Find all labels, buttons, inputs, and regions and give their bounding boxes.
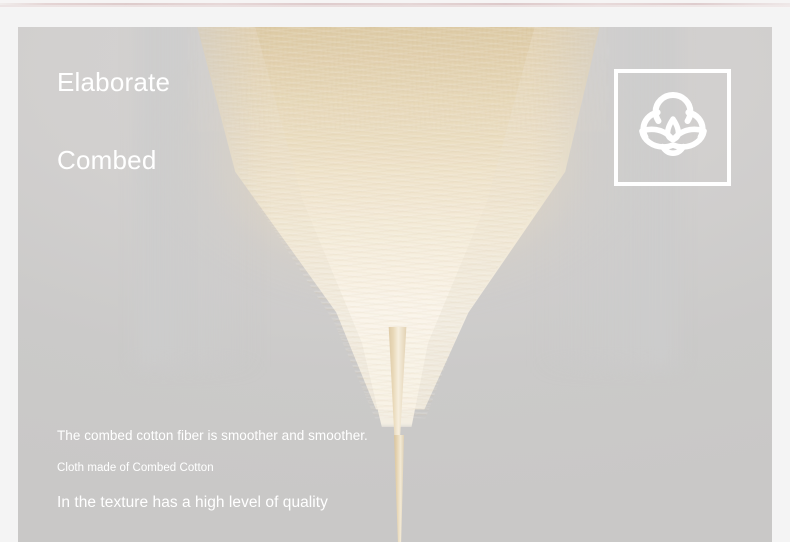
page-top-strip [0,0,790,8]
hero-banner[interactable]: Elaborate Combed The combed cotton fiber… [18,27,772,542]
top-strip-rule-soft [0,5,790,7]
copy-line-3: In the texture has a high level of quali… [57,493,477,513]
copy-line-1: The combed cotton fiber is smoother and … [57,427,477,444]
headline-line-2: Combed [57,141,187,180]
cotton-boll-icon [631,89,715,167]
copy-line-2: Cloth made of Combed Cotton [57,461,477,476]
hero-headline: Elaborate Combed [57,63,187,180]
headline-line-1: Elaborate [57,67,170,97]
cotton-badge [614,69,731,186]
hero-copy-block: The combed cotton fiber is smoother and … [57,427,477,513]
